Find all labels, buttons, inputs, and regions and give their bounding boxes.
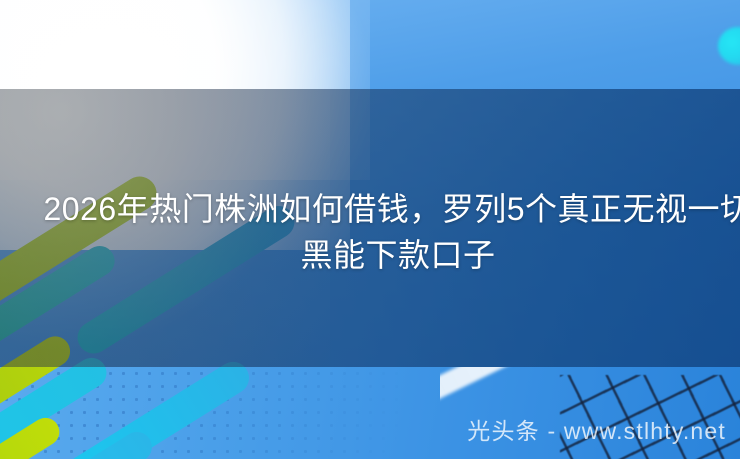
- banner-title: 2026年热门株洲如何借钱，罗列5个真正无视一切黑能下款口子: [0, 186, 740, 278]
- site-watermark: 光头条 - www.stlhty.net: [467, 412, 726, 446]
- article-thumbnail-banner: 2026年热门株洲如何借钱，罗列5个真正无视一切黑能下款口子 光头条 - www…: [0, 0, 740, 459]
